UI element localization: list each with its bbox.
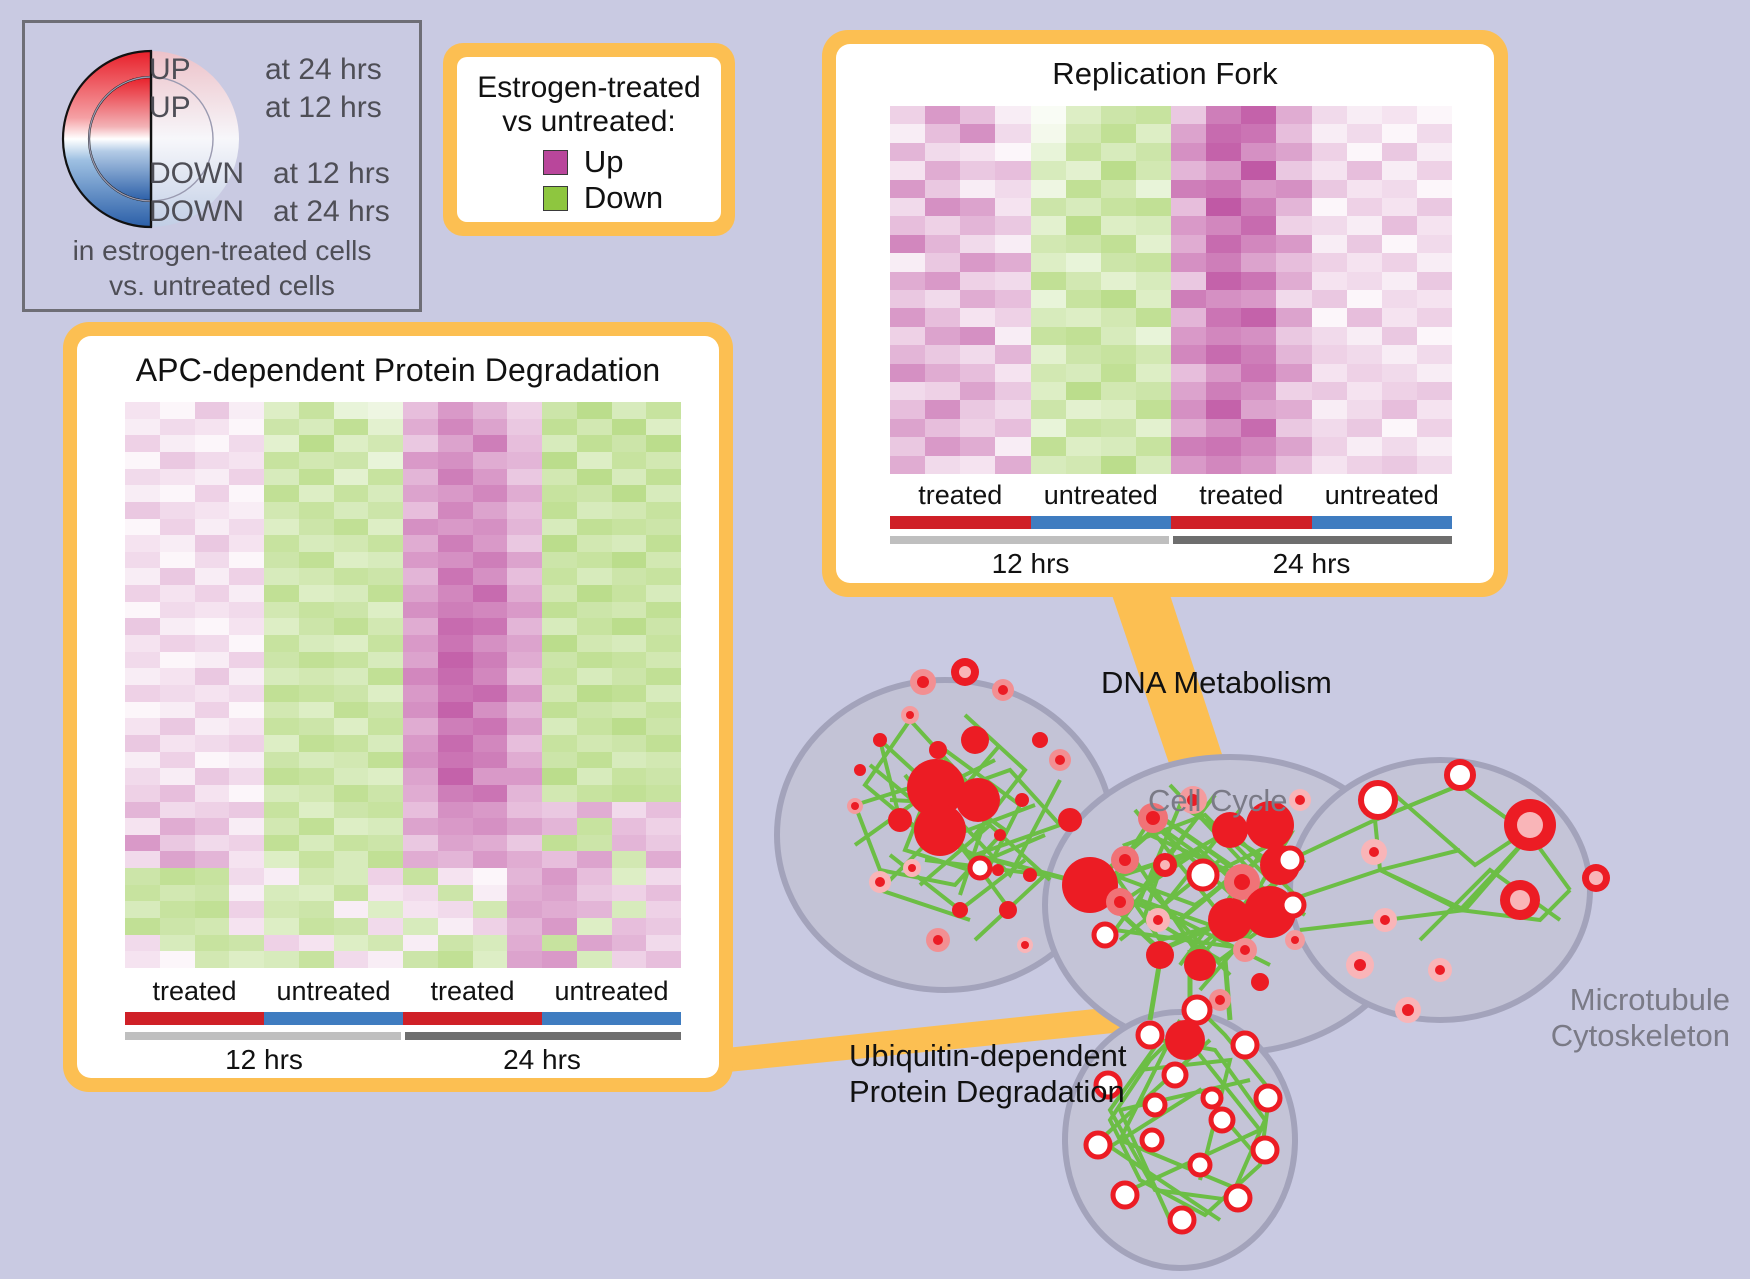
heatmap-cell: [195, 602, 230, 619]
heatmap-cell: [995, 290, 1030, 308]
heatmap-cell: [473, 702, 508, 719]
heatmap-cell: [646, 835, 681, 852]
timepoint-color-bar: [1173, 536, 1452, 544]
heatmap-cell: [995, 161, 1030, 179]
heatmap-cell: [160, 752, 195, 769]
heatmap-cell: [264, 935, 299, 952]
heatmap-cell: [368, 718, 403, 735]
heatmap-cell: [890, 216, 925, 234]
heatmap-cell: [1136, 143, 1171, 161]
heatmap-cell: [264, 435, 299, 452]
heatmap-cell: [1171, 290, 1206, 308]
heatmap-cell: [1312, 143, 1347, 161]
heatmap-cell: [334, 602, 369, 619]
heatmap-cell: [1031, 253, 1066, 271]
heatmap-cell: [264, 718, 299, 735]
heatmap-cell: [542, 435, 577, 452]
heatmap-cell: [577, 818, 612, 835]
heatmap-cell: [229, 618, 264, 635]
heatmap-cell: [229, 785, 264, 802]
heatmap-cell: [646, 901, 681, 918]
heatmap-cell: [890, 308, 925, 326]
heatmap-cell: [229, 718, 264, 735]
heatmap-cell: [334, 419, 369, 436]
heatmap-cell: [1206, 419, 1241, 437]
heatmap-cell: [403, 402, 438, 419]
colorwheel-footer: in estrogen-treated cells vs. untreated …: [25, 233, 419, 303]
heatmap-cell: [473, 519, 508, 536]
heatmap-cell: [542, 469, 577, 486]
colorwheel-row-0-time: at 24 hrs: [265, 53, 382, 87]
heatmap-cell: [368, 519, 403, 536]
heatmap-cell: [1382, 272, 1417, 290]
heatmap-cell: [1206, 290, 1241, 308]
heatmap-cell: [577, 402, 612, 419]
heatmap-cell: [368, 752, 403, 769]
heatmap-cell: [473, 485, 508, 502]
heatmap-cell: [473, 901, 508, 918]
condition-label: untreated: [264, 976, 403, 1007]
heatmap-cell: [299, 568, 334, 585]
heatmap-cell: [925, 456, 960, 474]
heatmap-cell: [960, 235, 995, 253]
heatmap-cell: [612, 901, 647, 918]
heatmap-cell: [1276, 180, 1311, 198]
heatmap-cell: [403, 668, 438, 685]
heatmap-cell: [160, 452, 195, 469]
heatmap-cell: [577, 535, 612, 552]
heatmap-cell: [229, 668, 264, 685]
heatmap-cell: [507, 535, 542, 552]
heatmap-cell: [368, 452, 403, 469]
heatmap-cell: [1312, 216, 1347, 234]
heatmap-cell: [438, 935, 473, 952]
heatmap-cell: [1382, 327, 1417, 345]
heatmap-cell: [473, 802, 508, 819]
heatmap-cell: [1241, 327, 1276, 345]
heatmap-cell: [299, 818, 334, 835]
heatmap-cell: [1136, 456, 1171, 474]
heatmap-cell: [612, 502, 647, 519]
heatmap-cell: [507, 851, 542, 868]
heatmap-cell: [125, 868, 160, 885]
heatmap-cell: [890, 290, 925, 308]
replication-fork-condition-labels: treateduntreatedtreateduntreated: [890, 480, 1452, 511]
heatmap-cell: [1347, 106, 1382, 124]
heatmap-cell: [403, 818, 438, 835]
heatmap-cell: [368, 585, 403, 602]
heatmap-cell: [1101, 437, 1136, 455]
heatmap-cell: [612, 435, 647, 452]
heatmap-cell: [960, 364, 995, 382]
heatmap-cell: [1241, 124, 1276, 142]
heatmap-cell: [264, 818, 299, 835]
colorwheel-row-2-label: DOWN: [149, 157, 244, 191]
heatmap-cell: [160, 735, 195, 752]
heatmap-cell: [646, 951, 681, 968]
heatmap-cell: [229, 485, 264, 502]
heatmap-cell: [577, 868, 612, 885]
heatmap-cell: [925, 106, 960, 124]
heatmap-cell: [1136, 272, 1171, 290]
heatmap-cell: [160, 585, 195, 602]
heatmap-cell: [160, 519, 195, 536]
heatmap-cell: [368, 885, 403, 902]
heatmap-cell: [612, 469, 647, 486]
heatmap-cell: [1347, 272, 1382, 290]
heatmap-cell: [542, 718, 577, 735]
heatmap-cell: [160, 485, 195, 502]
heatmap-cell: [195, 802, 230, 819]
heatmap-cell: [438, 818, 473, 835]
heatmap-cell: [125, 568, 160, 585]
heatmap-cell: [1066, 382, 1101, 400]
heatmap-cell: [299, 602, 334, 619]
heatmap-cell: [1136, 382, 1171, 400]
heatmap-cell: [1031, 345, 1066, 363]
heatmap-cell: [646, 602, 681, 619]
heatmap-cell: [1206, 308, 1241, 326]
heatmap-cell: [473, 768, 508, 785]
heatmap-cell: [125, 768, 160, 785]
colorwheel-row-3-time: at 24 hrs: [273, 195, 390, 229]
heatmap-cell: [195, 818, 230, 835]
heatmap-cell: [160, 818, 195, 835]
heatmap-cell: [125, 785, 160, 802]
heatmap-cell: [925, 216, 960, 234]
heatmap-cell: [473, 452, 508, 469]
heatmap-cell: [1066, 124, 1101, 142]
heatmap-cell: [507, 901, 542, 918]
heatmap-cell: [1031, 272, 1066, 290]
heatmap-cell: [473, 535, 508, 552]
heatmap-cell: [403, 568, 438, 585]
heatmap-cell: [1136, 364, 1171, 382]
heatmap-cell: [299, 901, 334, 918]
heatmap-cell: [507, 452, 542, 469]
heatmap-cell: [195, 835, 230, 852]
heatmap-cell: [1066, 198, 1101, 216]
heatmap-cell: [542, 802, 577, 819]
heatmap-cell: [368, 685, 403, 702]
heatmap-cell: [1312, 253, 1347, 271]
heatmap-cell: [368, 785, 403, 802]
heatmap-cell: [890, 327, 925, 345]
heatmap-cell: [229, 535, 264, 552]
heatmap-cell: [612, 768, 647, 785]
heatmap-cell: [1417, 456, 1452, 474]
heatmap-cell: [1347, 216, 1382, 234]
heatmap-cell: [960, 253, 995, 271]
heatmap-cell: [125, 552, 160, 569]
heatmap-cell: [925, 253, 960, 271]
heatmap-cell: [403, 652, 438, 669]
heatmap-cell: [507, 685, 542, 702]
heatmap-cell: [577, 618, 612, 635]
heatmap-cell: [1206, 106, 1241, 124]
heatmap-cell: [160, 435, 195, 452]
figure-canvas: UP at 24 hrs UP at 12 hrs DOWN at 12 hrs…: [0, 0, 1750, 1279]
heatmap-cell: [542, 502, 577, 519]
expression-legend-body: Estrogen-treated vs untreated: Up Down: [457, 57, 721, 218]
heatmap-cell: [995, 456, 1030, 474]
heatmap-cell: [299, 702, 334, 719]
heatmap-cell: [542, 585, 577, 602]
heatmap-cell: [542, 818, 577, 835]
heatmap-cell: [334, 635, 369, 652]
heatmap-cell: [473, 402, 508, 419]
heatmap-cell: [1066, 143, 1101, 161]
heatmap-cell: [646, 552, 681, 569]
heatmap-cell: [368, 568, 403, 585]
timepoint-label: 24 hrs: [403, 1044, 681, 1076]
heatmap-cell: [507, 635, 542, 652]
heatmap-cell: [334, 402, 369, 419]
heatmap-cell: [507, 469, 542, 486]
heatmap-cell: [646, 668, 681, 685]
heatmap-cell: [229, 519, 264, 536]
heatmap-cell: [160, 502, 195, 519]
heatmap-cell: [542, 402, 577, 419]
heatmap-cell: [264, 402, 299, 419]
heatmap-cell: [1031, 437, 1066, 455]
expression-legend-title-line2: vs untreated:: [457, 105, 721, 139]
heatmap-cell: [1171, 345, 1206, 363]
heatmap-cell: [438, 835, 473, 852]
heatmap-cell: [577, 768, 612, 785]
heatmap-cell: [1171, 198, 1206, 216]
heatmap-cell: [1276, 143, 1311, 161]
heatmap-cell: [1276, 345, 1311, 363]
heatmap-cell: [403, 685, 438, 702]
heatmap-cell: [264, 752, 299, 769]
heatmap-cell: [334, 502, 369, 519]
heatmap-cell: [264, 835, 299, 852]
heatmap-cell: [403, 768, 438, 785]
heatmap-cell: [1382, 364, 1417, 382]
heatmap-cell: [403, 435, 438, 452]
heatmap-cell: [1066, 345, 1101, 363]
heatmap-cell: [1276, 364, 1311, 382]
heatmap-cell: [264, 802, 299, 819]
heatmap-cell: [195, 435, 230, 452]
heatmap-cell: [229, 502, 264, 519]
heatmap-cell: [542, 519, 577, 536]
heatmap-cell: [368, 935, 403, 952]
heatmap-cell: [1382, 180, 1417, 198]
heatmap-cell: [403, 635, 438, 652]
heatmap-cell: [334, 585, 369, 602]
heatmap-cell: [438, 435, 473, 452]
cluster-label-ubiquitin-dependent-protein-degradation: Ubiquitin-dependent Protein Degradation: [849, 1038, 1127, 1110]
heatmap-cell: [334, 668, 369, 685]
heatmap-cell: [1312, 106, 1347, 124]
condition-color-bar: [1171, 516, 1312, 529]
heatmap-cell: [160, 618, 195, 635]
heatmap-cell: [1171, 161, 1206, 179]
heatmap-cell: [1171, 382, 1206, 400]
heatmap-cell: [1101, 106, 1136, 124]
heatmap-cell: [368, 419, 403, 436]
heatmap-cell: [229, 835, 264, 852]
colorwheel-row-2-time: at 12 hrs: [273, 157, 390, 191]
heatmap-cell: [995, 400, 1030, 418]
heatmap-cell: [1347, 235, 1382, 253]
heatmap-cell: [577, 602, 612, 619]
heatmap-cell: [160, 568, 195, 585]
heatmap-cell: [612, 835, 647, 852]
heatmap-cell: [438, 618, 473, 635]
heatmap-cell: [125, 452, 160, 469]
heatmap-cell: [1066, 290, 1101, 308]
heatmap-cell: [438, 752, 473, 769]
heatmap-cell: [264, 419, 299, 436]
heatmap-cell: [125, 435, 160, 452]
heatmap-cell: [438, 768, 473, 785]
condition-color-bar: [264, 1012, 403, 1025]
heatmap-cell: [473, 735, 508, 752]
legend-item-up-label: Up: [584, 145, 624, 180]
apc-time-labels: 12 hrs24 hrs: [125, 1044, 681, 1076]
heatmap-cell: [507, 568, 542, 585]
heatmap-cell: [542, 835, 577, 852]
heatmap-cell: [473, 602, 508, 619]
heatmap-cell: [229, 752, 264, 769]
condition-label: untreated: [1312, 480, 1453, 511]
heatmap-cell: [264, 485, 299, 502]
heatmap-cell: [264, 851, 299, 868]
heatmap-cell: [403, 802, 438, 819]
heatmap-cell: [195, 402, 230, 419]
heatmap-cell: [507, 835, 542, 852]
heatmap-cell: [1031, 198, 1066, 216]
heatmap-cell: [195, 752, 230, 769]
heatmap-cell: [264, 918, 299, 935]
heatmap-cell: [125, 818, 160, 835]
heatmap-cell: [1417, 290, 1452, 308]
heatmap-cell: [1382, 253, 1417, 271]
heatmap-cell: [577, 435, 612, 452]
heatmap-cell: [473, 918, 508, 935]
heatmap-cell: [612, 519, 647, 536]
heatmap-cell: [646, 702, 681, 719]
heatmap-cell: [403, 752, 438, 769]
heatmap-cell: [1031, 327, 1066, 345]
heatmap-cell: [646, 402, 681, 419]
heatmap-cell: [368, 535, 403, 552]
heatmap-cell: [612, 818, 647, 835]
heatmap-cell: [507, 785, 542, 802]
heatmap-cell: [299, 802, 334, 819]
heatmap-cell: [334, 851, 369, 868]
heatmap-cell: [229, 735, 264, 752]
heatmap-cell: [264, 585, 299, 602]
heatmap-cell: [438, 901, 473, 918]
heatmap-cell: [995, 308, 1030, 326]
heatmap-cell: [646, 685, 681, 702]
heatmap-cell: [1031, 419, 1066, 437]
heatmap-cell: [646, 802, 681, 819]
heatmap-cell: [960, 308, 995, 326]
heatmap-cell: [125, 885, 160, 902]
heatmap-cell: [229, 702, 264, 719]
heatmap-cell: [264, 635, 299, 652]
heatmap-cell: [1417, 419, 1452, 437]
heatmap-cell: [890, 364, 925, 382]
heatmap-cell: [890, 106, 925, 124]
heatmap-cell: [299, 785, 334, 802]
condition-color-bar: [403, 1012, 542, 1025]
heatmap-cell: [368, 502, 403, 519]
heatmap-cell: [542, 918, 577, 935]
heatmap-cell: [195, 885, 230, 902]
heatmap-cell: [368, 702, 403, 719]
heatmap-cell: [125, 502, 160, 519]
replication-fork-time-bars: [890, 536, 1452, 544]
heatmap-cell: [1136, 308, 1171, 326]
heatmap-cell: [299, 419, 334, 436]
heatmap-cell: [612, 918, 647, 935]
heatmap-cell: [1417, 364, 1452, 382]
heatmap-cell: [925, 327, 960, 345]
heatmap-cell: [229, 469, 264, 486]
heatmap-cell: [925, 400, 960, 418]
heatmap-cell: [229, 768, 264, 785]
heatmap-cell: [1347, 456, 1382, 474]
heatmap-cell: [473, 885, 508, 902]
heatmap-cell: [1347, 308, 1382, 326]
heatmap-cell: [1136, 198, 1171, 216]
heatmap-cell: [195, 735, 230, 752]
heatmap-cell: [612, 602, 647, 619]
heatmap-cell: [368, 818, 403, 835]
heatmap-cell: [577, 502, 612, 519]
condition-color-bar: [125, 1012, 264, 1025]
heatmap-cell: [229, 635, 264, 652]
heatmap-cell: [264, 552, 299, 569]
condition-color-bar: [1031, 516, 1172, 529]
condition-color-bar: [1312, 516, 1453, 529]
heatmap-cell: [160, 652, 195, 669]
heatmap-cell: [160, 885, 195, 902]
heatmap-cell: [1347, 143, 1382, 161]
heatmap-cell: [334, 802, 369, 819]
heatmap-cell: [195, 552, 230, 569]
heatmap-cell: [960, 272, 995, 290]
heatmap-cell: [229, 802, 264, 819]
heatmap-cell: [299, 652, 334, 669]
heatmap-cell: [1241, 235, 1276, 253]
heatmap-cell: [890, 180, 925, 198]
heatmap-cell: [1101, 198, 1136, 216]
heatmap-cell: [995, 180, 1030, 198]
heatmap-cell: [646, 652, 681, 669]
heatmap-cell: [1206, 143, 1241, 161]
heatmap-cell: [577, 652, 612, 669]
heatmap-cell: [438, 568, 473, 585]
condition-label: treated: [403, 976, 542, 1007]
heatmap-cell: [403, 885, 438, 902]
heatmap-cell: [507, 818, 542, 835]
heatmap-cell: [1417, 143, 1452, 161]
heatmap-cell: [403, 718, 438, 735]
heatmap-cell: [612, 802, 647, 819]
heatmap-cell: [646, 768, 681, 785]
heatmap-cell: [1136, 419, 1171, 437]
heatmap-cell: [334, 835, 369, 852]
heatmap-cell: [1276, 400, 1311, 418]
heatmap-cell: [438, 419, 473, 436]
